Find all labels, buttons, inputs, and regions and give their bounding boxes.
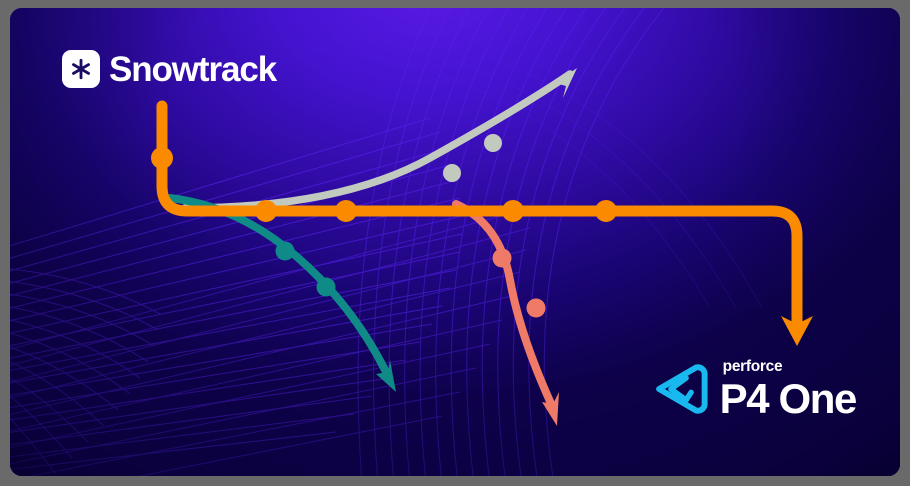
branch-node [502,200,524,222]
branch-node [151,147,173,169]
snowtrack-logo: Snowtrack [62,50,276,88]
branch-salmon [456,204,559,426]
branch-node [484,134,502,152]
branch-teal [170,198,396,392]
snowtrack-wordmark: Snowtrack [109,52,276,87]
image-frame: Snowtrack perforce P4 One [0,0,910,486]
p4-one-text-block: perforce P4 One [720,359,856,421]
graphic-canvas: Snowtrack perforce P4 One [10,8,900,476]
branch-node [335,200,357,222]
branch-node [493,249,512,268]
perforce-wordmark: perforce [723,359,783,375]
branch-node [276,242,295,261]
branch-node [317,278,336,297]
snowflake-asterisk-icon [62,50,100,88]
branch-node [443,164,461,182]
p4-one-wordmark: P4 One [720,378,856,420]
p4-triangle-arrow-icon [654,362,708,416]
p4-one-logo: perforce P4 One [654,359,856,421]
branch-gray [185,68,577,208]
branch-node [255,200,277,222]
branch-node [527,299,546,318]
branch-node [595,200,617,222]
